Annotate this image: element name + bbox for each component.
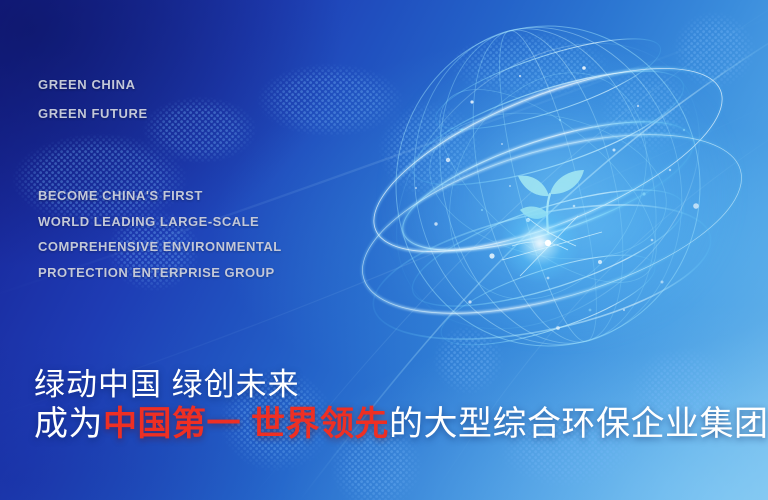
headline-highlight: 中国第一 世界领先 — [103, 405, 389, 443]
headline-line-2: 成为中国第一 世界领先的大型综合环保企业集团 — [34, 403, 768, 445]
eyebrow-line-2: GREEN FUTURE — [38, 99, 148, 128]
tagline-line-4: PROTECTION ENTERPRISE GROUP — [38, 260, 282, 286]
eyebrow-line-1: GREEN CHINA — [38, 70, 148, 99]
hero-banner: GREEN CHINA GREEN FUTURE BECOME CHINA'S … — [0, 0, 768, 500]
headline-prefix: 成为 — [34, 405, 103, 443]
headline-line-1: 绿动中国 绿创未来 — [34, 366, 768, 404]
eyebrow-text: GREEN CHINA GREEN FUTURE — [38, 70, 148, 128]
tagline-line-2: WORLD LEADING LARGE-SCALE — [38, 209, 282, 235]
tagline-text: BECOME CHINA'S FIRST WORLD LEADING LARGE… — [38, 183, 282, 285]
tagline-line-3: COMPREHENSIVE ENVIRONMENTAL — [38, 234, 282, 260]
headline: 绿动中国 绿创未来 成为中国第一 世界领先的大型综合环保企业集团 — [34, 366, 768, 445]
headline-suffix: 的大型综合环保企业集团 — [389, 405, 768, 443]
tagline-line-1: BECOME CHINA'S FIRST — [38, 183, 282, 209]
